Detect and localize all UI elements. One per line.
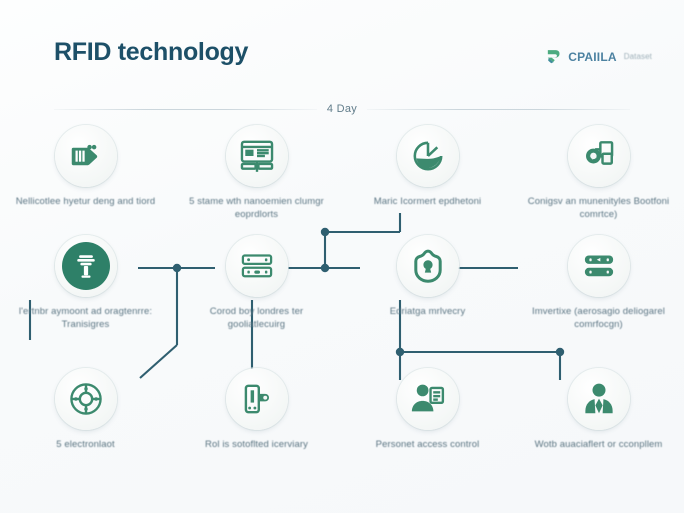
node-person-suit[interactable]: Wotb auaciaflert or cconpllem xyxy=(513,368,684,478)
node-antenna-tower[interactable]: l'ertnbr aymoont ad oragtenrre: Tranisig… xyxy=(0,235,171,345)
badge-circle xyxy=(226,125,288,187)
divider-line-left xyxy=(54,109,317,110)
page-title: RFID technology xyxy=(54,38,248,67)
node-rfid-chip-circle[interactable]: 5 electronlaot xyxy=(0,368,171,478)
node-caption: l'ertnbr aymoont ad oragtenrre: Tranisig… xyxy=(11,306,161,332)
badge-circle xyxy=(226,235,288,297)
badge-circle xyxy=(55,125,117,187)
brand-name: CPAIILA xyxy=(568,50,617,64)
badge-circle xyxy=(568,125,630,187)
badge-circle xyxy=(397,235,459,297)
node-caption: Edriatga mrlvecry xyxy=(353,306,503,319)
rfid-chip-circle-icon xyxy=(67,380,105,418)
node-caption: 5 electronlaot xyxy=(11,439,161,452)
icon-grid: Nellicotlee hyetur deng and tiord xyxy=(0,125,684,475)
gear-documents-icon xyxy=(580,138,617,175)
node-person-badge[interactable]: Personet access control xyxy=(342,368,513,478)
grid-row-3: 5 electronlaot xyxy=(0,368,684,478)
grid-row-1: Nellicotlee hyetur deng and tiord xyxy=(0,125,684,235)
node-caption: Maric Icormert epdhetoni xyxy=(353,196,503,209)
person-badge-icon xyxy=(409,380,447,418)
node-caption: Wotb auaciaflert or cconpllem xyxy=(524,439,674,452)
badge-circle xyxy=(55,235,117,297)
rfid-tag-label-icon xyxy=(68,138,104,174)
badge-circle xyxy=(397,125,459,187)
badge-circle xyxy=(568,368,630,430)
node-server-stack[interactable]: Corod boy londres ter gooliatlecuirg xyxy=(171,235,342,345)
infographic-page: RFID technology CPAIILA Dataset 4 Day xyxy=(0,0,684,513)
handheld-scanner-icon xyxy=(239,381,275,417)
brand-subtitle: Dataset xyxy=(624,52,652,61)
node-caption: Rol is sotoflted icerviary xyxy=(182,439,332,452)
divider-line-right xyxy=(367,109,630,110)
node-desktop-monitor-document[interactable]: 5 stame wth nanoemien clumgr eoprdlorts xyxy=(171,125,342,235)
node-caption: Nellicotlee hyetur deng and tiord xyxy=(11,196,161,209)
pie-chart-leaf-icon xyxy=(410,138,446,174)
node-pie-chart-leaf[interactable]: Maric Icormert epdhetoni xyxy=(342,125,513,235)
node-caption: Corod boy londres ter gooliatlecuirg xyxy=(182,306,332,332)
antenna-tower-icon xyxy=(71,251,101,281)
person-suit-icon xyxy=(580,380,618,418)
node-shield-lock[interactable]: Edriatga mrlvecry xyxy=(342,235,513,345)
grid-row-2: l'ertnbr aymoont ad oragtenrre: Tranisig… xyxy=(0,235,684,345)
badge-circle xyxy=(397,368,459,430)
node-caption: 5 stame wth nanoemien clumgr eoprdlorts xyxy=(182,196,332,222)
divider-label: 4 Day xyxy=(327,103,357,115)
server-stack-icon xyxy=(239,248,275,284)
node-handheld-scanner[interactable]: Rol is sotoflted icerviary xyxy=(171,368,342,478)
node-rfid-tag-label[interactable]: Nellicotlee hyetur deng and tiord xyxy=(0,125,171,235)
badge-circle xyxy=(568,235,630,297)
database-bars-filled-icon xyxy=(581,248,617,284)
node-caption: Personet access control xyxy=(353,439,503,452)
section-divider: 4 Day xyxy=(54,103,630,115)
badge-circle xyxy=(55,368,117,430)
leaf-swoosh-logo-icon xyxy=(545,48,562,65)
desktop-monitor-document-icon xyxy=(238,137,276,175)
header: RFID technology CPAIILA Dataset xyxy=(0,0,684,96)
node-caption: Conigsv an munenityles Bootfoni comrtce) xyxy=(524,196,674,222)
brand-logo: CPAIILA Dataset xyxy=(545,48,652,65)
shield-lock-icon xyxy=(409,247,447,285)
node-gear-documents[interactable]: Conigsv an munenityles Bootfoni comrtce) xyxy=(513,125,684,235)
node-database-bars-filled[interactable]: Imvertixe (aerosagio deliogarel comrfocg… xyxy=(513,235,684,345)
badge-circle xyxy=(226,368,288,430)
node-caption: Imvertixe (aerosagio deliogarel comrfocg… xyxy=(524,306,674,332)
